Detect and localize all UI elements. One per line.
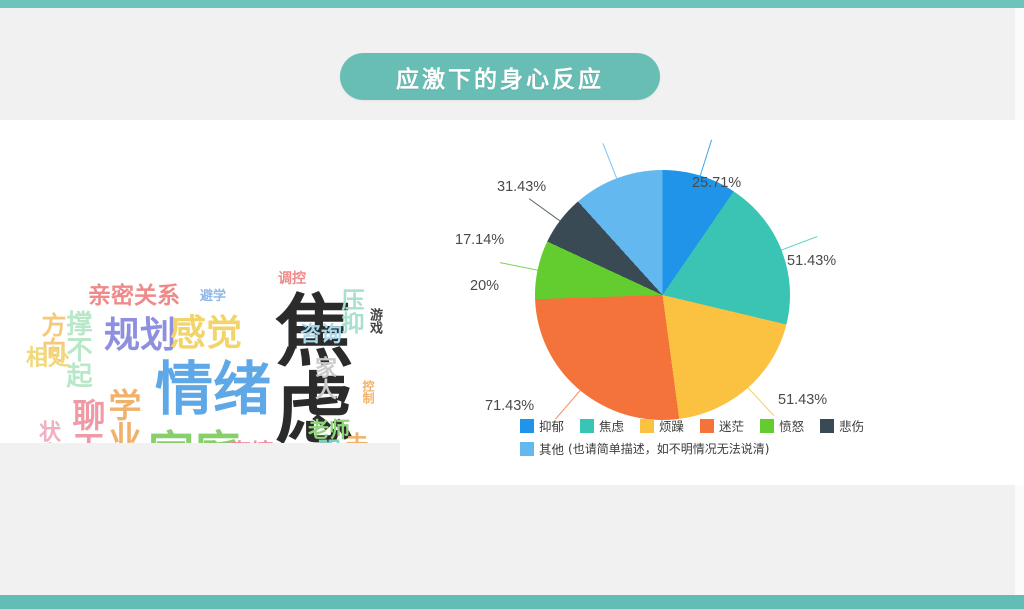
legend-swatch-icon bbox=[820, 419, 834, 433]
wordcloud-word: 情绪 bbox=[155, 360, 271, 418]
wordcloud-panel: 焦虑情绪家庭规划感觉亲密关系聊天学业事情信心方向相处撑不起状态老师家人咨询压抑明… bbox=[0, 120, 402, 443]
wordcloud-word: 咨询 bbox=[300, 324, 342, 345]
legend-swatch-icon bbox=[700, 419, 714, 433]
wordcloud-word: 调控 bbox=[278, 272, 306, 286]
wordcloud-word: 感觉 bbox=[170, 316, 242, 352]
pie-chart: 25.71%51.43%51.43%71.43%20%17.14%31.43% bbox=[535, 170, 790, 420]
legend-swatch-icon bbox=[520, 419, 534, 433]
legend-item-label: 迷茫 bbox=[719, 416, 744, 435]
pie-slice-label: 20% bbox=[470, 278, 499, 294]
pie-slice-label: 51.43% bbox=[778, 392, 827, 408]
legend-row-secondary: 其他(也请简单描述，如不明情况无法说清) bbox=[520, 439, 1000, 458]
wordcloud-word: 避学 bbox=[200, 290, 226, 303]
pie-leader-line bbox=[779, 237, 817, 251]
pie-leader-line bbox=[555, 389, 581, 420]
wordcloud-word: 事情 bbox=[228, 442, 274, 443]
pie-slice-label: 25.71% bbox=[692, 175, 741, 191]
legend-swatch-icon bbox=[640, 419, 654, 433]
chart-legend: 抑郁焦虑烦躁迷茫愤怒悲伤 其他(也请简单描述，如不明情况无法说清) bbox=[520, 416, 1000, 462]
pie-slice-label: 31.43% bbox=[497, 179, 546, 195]
legend-item-label: 抑郁 bbox=[539, 416, 564, 435]
bottom-accent-bar bbox=[0, 595, 1024, 609]
top-accent-bar bbox=[0, 0, 1024, 8]
legend-item-label: 悲伤 bbox=[839, 416, 864, 435]
wordcloud-word: 学业 bbox=[106, 388, 139, 443]
pie-slice-label: 71.43% bbox=[485, 398, 534, 414]
legend-item-label: 烦躁 bbox=[659, 416, 684, 435]
pie-leader-lines bbox=[535, 170, 790, 420]
pie-slice-label: 51.43% bbox=[787, 253, 836, 269]
wordcloud-word: 撑不起 bbox=[64, 310, 90, 388]
legend-swatch-icon bbox=[520, 442, 534, 456]
legend-row-primary: 抑郁焦虑烦躁迷茫愤怒悲伤 bbox=[520, 416, 1000, 435]
legend-swatch-icon bbox=[760, 419, 774, 433]
legend-item[interactable]: 悲伤 bbox=[820, 416, 864, 435]
legend-item-label: 愤怒 bbox=[779, 416, 804, 435]
legend-item[interactable]: 焦虑 bbox=[580, 416, 624, 435]
wordcloud-word: 家人 bbox=[312, 356, 334, 400]
pie-leader-line bbox=[529, 199, 562, 223]
section-title-pill: 应激下的身心反应 bbox=[340, 53, 660, 100]
wordcloud-word: 未来 bbox=[342, 432, 365, 443]
legend-swatch-icon bbox=[580, 419, 594, 433]
wordcloud-word: 状态 bbox=[36, 420, 58, 443]
legend-item[interactable]: 其他(也请简单描述，如不明情况无法说清) bbox=[520, 439, 769, 458]
pie-leader-line bbox=[500, 263, 540, 271]
pie-leader-line bbox=[603, 143, 618, 180]
wordcloud-word: 聊天 bbox=[70, 398, 103, 443]
pie-slice-label: 17.14% bbox=[455, 232, 504, 248]
wordcloud-word: 压抑 bbox=[338, 288, 361, 334]
legend-item[interactable]: 愤怒 bbox=[760, 416, 804, 435]
legend-item[interactable]: 迷茫 bbox=[700, 416, 744, 435]
pie-leader-line bbox=[700, 140, 712, 178]
legend-item-note: (也请简单描述，如不明情况无法说清) bbox=[568, 440, 769, 457]
legend-item-label: 其他 bbox=[539, 439, 564, 458]
wordcloud-word: 家庭 bbox=[148, 430, 240, 443]
pie-leader-line bbox=[746, 386, 773, 416]
page-title: 应激下的身心反应 bbox=[396, 60, 604, 94]
wordcloud-word: 游戏 bbox=[368, 308, 381, 334]
wordcloud-word: 控制 bbox=[362, 380, 374, 404]
screenshot-root: 应激下的身心反应 焦虑情绪家庭规划感觉亲密关系聊天学业事情信心方向相处撑不起状态… bbox=[0, 0, 1024, 609]
legend-item-label: 焦虑 bbox=[599, 416, 624, 435]
wordcloud-word: 规划 bbox=[104, 318, 176, 354]
legend-item[interactable]: 抑郁 bbox=[520, 416, 564, 435]
wordcloud-word: 明明 bbox=[314, 438, 337, 443]
pie-chart-panel: 25.71%51.43%51.43%71.43%20%17.14%31.43% … bbox=[400, 120, 1024, 485]
legend-item[interactable]: 烦躁 bbox=[640, 416, 684, 435]
wordcloud-word: 亲密关系 bbox=[88, 285, 180, 308]
